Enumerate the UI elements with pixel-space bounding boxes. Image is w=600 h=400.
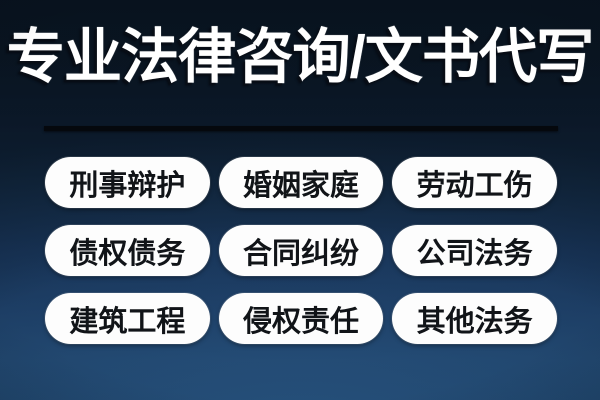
title-divider xyxy=(44,126,558,131)
service-pill-tort-liability[interactable]: 侵权责任 xyxy=(219,293,384,344)
service-row: 建筑工程 侵权责任 其他法务 xyxy=(45,293,557,344)
service-pill-corporate-legal[interactable]: 公司法务 xyxy=(392,225,557,276)
service-row: 刑事辩护 婚姻家庭 劳动工伤 xyxy=(45,157,557,208)
service-pill-other-legal[interactable]: 其他法务 xyxy=(392,293,557,344)
service-pill-criminal-defense[interactable]: 刑事辩护 xyxy=(45,157,210,208)
service-pill-labor-injury[interactable]: 劳动工伤 xyxy=(392,157,557,208)
service-pill-contract-dispute[interactable]: 合同纠纷 xyxy=(219,225,384,276)
service-category-grid: 刑事辩护 婚姻家庭 劳动工伤 债权债务 合同纠纷 公司法务 建筑工程 侵权责任 … xyxy=(45,157,557,344)
legal-services-poster: 专业法律咨询/文书代写 刑事辩护 婚姻家庭 劳动工伤 债权债务 合同纠纷 公司法… xyxy=(0,0,600,400)
service-pill-marriage-family[interactable]: 婚姻家庭 xyxy=(219,157,384,208)
service-row: 债权债务 合同纠纷 公司法务 xyxy=(45,225,557,276)
service-pill-creditor-debt[interactable]: 债权债务 xyxy=(45,225,210,276)
service-pill-construction-engineering[interactable]: 建筑工程 xyxy=(45,293,210,344)
poster-content: 专业法律咨询/文书代写 刑事辩护 婚姻家庭 劳动工伤 债权债务 合同纠纷 公司法… xyxy=(0,0,600,400)
page-title: 专业法律咨询/文书代写 xyxy=(5,28,596,87)
